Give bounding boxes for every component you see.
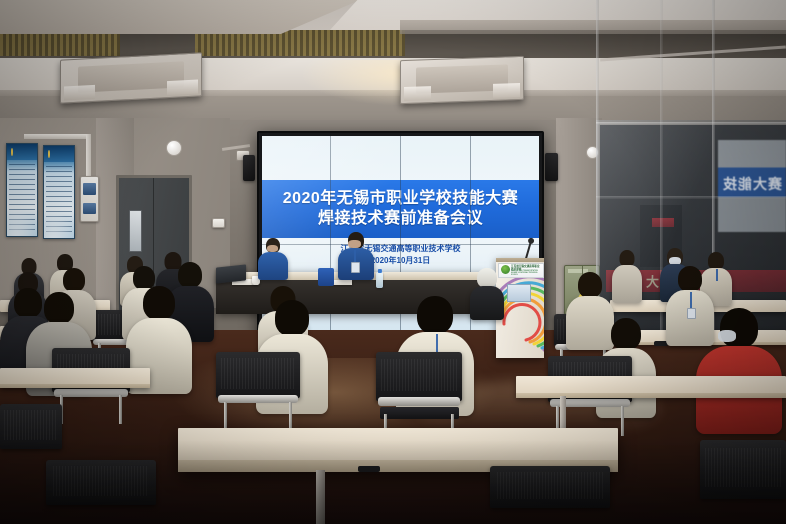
wall-speaker-left [243,155,255,181]
audience-near-6-red [696,308,782,428]
lectern-top [496,258,544,262]
audience-far-5-body [612,265,642,303]
control-panel-display-2 [83,203,95,214]
door-window [129,210,142,252]
audience-far-7-lanyard [716,269,718,281]
ac-vent-left-2 [167,79,198,95]
audience-mid-2-head [63,268,85,292]
audience-near-6-head [720,308,758,348]
ac-cassette-right [400,56,524,104]
water-bottle-head-table [376,272,383,288]
ac-vent-right [404,86,431,101]
bottle-cap [377,269,381,273]
foreground-table-leg [316,470,325,524]
chair-back-foreground-far-right [700,440,786,499]
presenter-left-face [267,245,278,252]
presenter-laptop[interactable] [216,264,246,283]
control-panel-display [83,183,95,194]
chair-foreground-far-left[interactable] [0,404,62,474]
audience-near-5-head [417,296,453,334]
ac-cassette-left [60,52,202,103]
chair-back-foreground-right [490,466,610,508]
wall-poster-left [6,143,38,237]
presenter-left [258,238,288,278]
audience-near-2-head [44,292,74,324]
presenter-center [338,232,374,278]
lectern-info-card [507,284,531,302]
wall-control-panel[interactable] [80,176,99,222]
presenter-left-torso [258,252,288,280]
conduit-horizontal [24,134,90,139]
wall-speaker-right [545,153,558,181]
blue-bag-on-table [318,268,334,286]
audience-mid-7-head [578,272,602,298]
student-table-near-left [0,368,150,388]
student-table-near-right [516,376,786,398]
poster-swoosh-left [6,205,38,236]
audience-near-6-mask [718,330,736,342]
chair-back-foreground-left [46,460,156,505]
chair-back-near-center [216,352,300,398]
audience-mid-4-head [178,262,202,288]
poster-swoosh-right [43,207,75,238]
chair-leg-near-left-2 [119,395,122,424]
chair-frame-near-empty [378,397,461,405]
audience-mid-8-head [678,266,702,292]
chair-near-empty[interactable] [376,352,462,436]
ac-vent-left [64,85,95,101]
conduit-vertical [86,134,91,178]
chair-back-near-empty [376,352,462,401]
meeting-room-photo: 技能大赛 赛大能技 2020年无锡市职业学校技能大赛 焊接技术赛前准备会议 江苏… [0,0,786,524]
audience-mid-6-body [470,286,504,320]
chair-seat-near-empty [380,407,459,419]
presenter-center-badge [351,262,360,273]
chair-leg-near-right-2 [621,406,624,436]
audience-mid-8-lanyard [690,292,692,308]
chair-back-foreground-far-left [0,404,62,449]
smoke-detector [166,140,182,156]
chair-frame-near-left [54,389,129,397]
chair-foreground-far-right[interactable] [700,440,786,524]
audience-near-7-head [611,318,641,350]
audience-far-5 [612,250,642,302]
table-edge-near-left [0,384,150,388]
audience-near-3-head [143,286,175,320]
lectern-school-banner: 江苏省无锡交通高等职业技术学校 JIANGSU WUXI TRANSPORTAT… [498,263,544,278]
audience-near-4-head [275,300,309,336]
light-switch[interactable] [212,218,225,228]
audience-mid-6-head [477,268,497,288]
chair-foreground-right[interactable] [490,466,610,524]
panel-seam-h [262,244,539,245]
chair-foreground-left[interactable] [46,460,156,524]
audience-mid-6-cap [470,268,504,316]
audience-mid-8-badge [687,308,696,319]
ac-vent-right-2 [493,83,520,98]
chair-near-center[interactable] [216,352,300,432]
foreground-table-grommet [358,466,380,472]
wall-poster-right [43,145,75,239]
table-edge-near-right [516,393,786,398]
chair-frame-near-center [218,395,299,403]
ceiling-band [400,20,786,34]
presenter-center-face [348,240,361,248]
lectern-banner-subtext: JIANGSU WUXI TRANSPORTATION HIGHER VOCAT… [511,271,542,277]
